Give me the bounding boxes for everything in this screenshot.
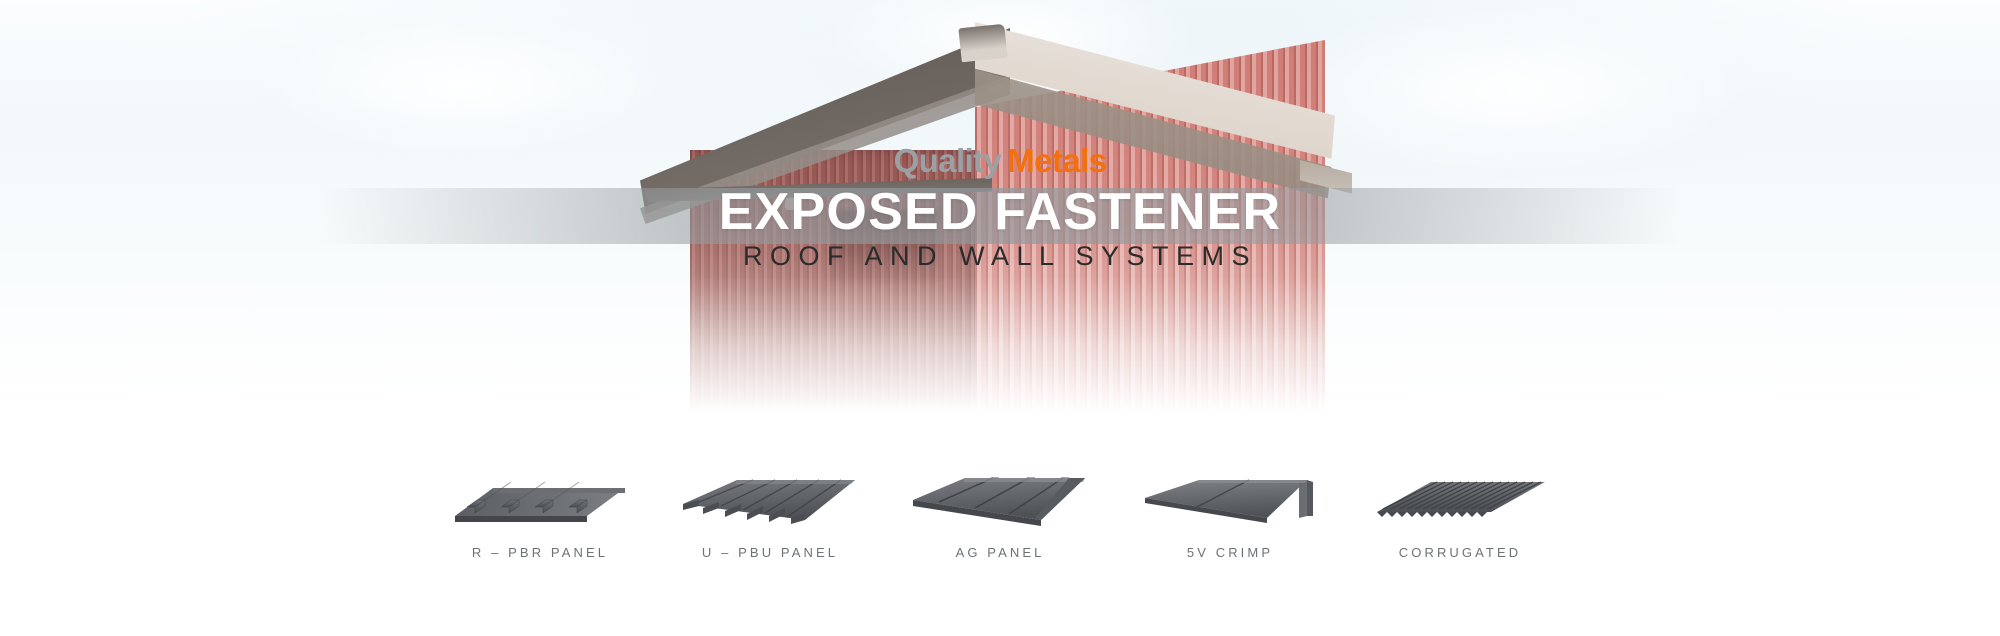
panel-card-corrugated[interactable]: CORRUGATED: [1369, 466, 1551, 560]
panel-label: R – PBR PANEL: [472, 545, 608, 560]
panel-type-list: R – PBR PANEL: [0, 466, 2000, 560]
pbr-panel-icon: [449, 466, 631, 528]
panel-card-pbr[interactable]: R – PBR PANEL: [449, 466, 631, 560]
hero-banner: QualityMetals EXPOSED FASTENER ROOF AND …: [0, 0, 2000, 636]
5v-crimp-panel-icon: [1139, 466, 1321, 528]
panel-card-pbu[interactable]: U – PBU PANEL: [679, 466, 861, 560]
roof-ridge-cap: [958, 24, 1007, 63]
brand-logo-quality: Quality: [894, 142, 1002, 179]
panel-card-5v-crimp[interactable]: 5V CRIMP: [1139, 466, 1321, 560]
brand-logo-metals: Metals: [1007, 142, 1106, 179]
corrugated-panel-icon: [1369, 466, 1551, 528]
panel-label: 5V CRIMP: [1187, 545, 1273, 560]
pbu-panel-icon: [679, 466, 861, 528]
brand-logo: QualityMetals: [0, 144, 2000, 177]
hero-image: QualityMetals EXPOSED FASTENER ROOF AND …: [0, 0, 2000, 460]
panel-label: U – PBU PANEL: [702, 545, 838, 560]
hero-subheadline: ROOF AND WALL SYSTEMS: [0, 243, 2000, 270]
panel-label: AG PANEL: [956, 545, 1045, 560]
panel-card-ag[interactable]: AG PANEL: [909, 466, 1091, 560]
panel-label: CORRUGATED: [1399, 545, 1521, 560]
hero-headline: EXPOSED FASTENER: [0, 186, 2000, 238]
ag-panel-icon: [909, 466, 1091, 528]
